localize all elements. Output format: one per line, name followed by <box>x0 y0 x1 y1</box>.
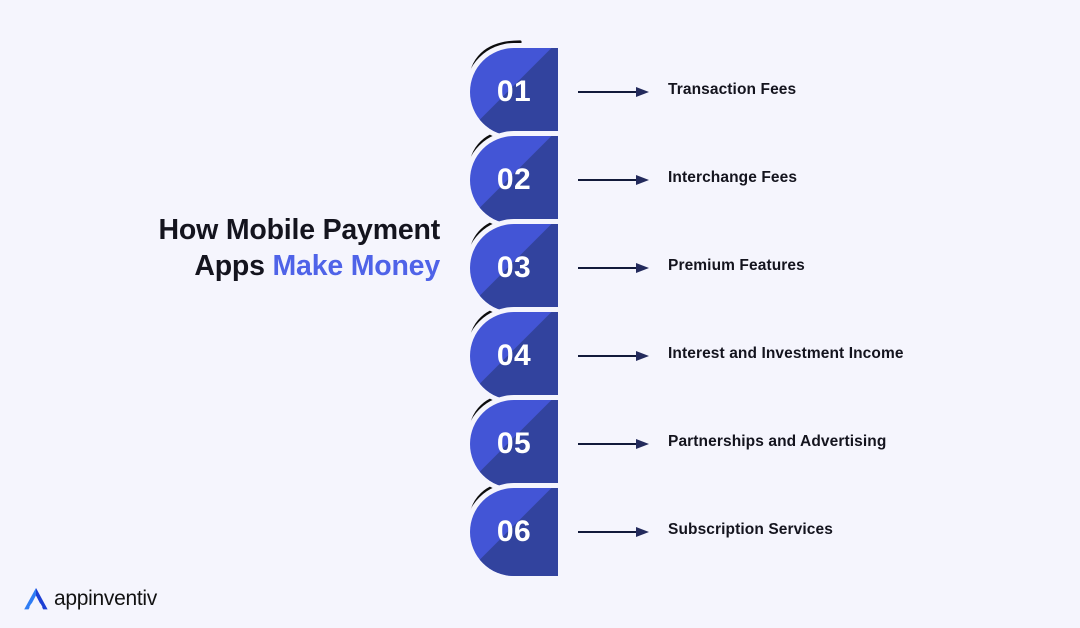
step-badge[interactable]: 02 <box>470 136 558 224</box>
step-number: 03 <box>470 224 558 312</box>
step-label: Interchange Fees <box>668 169 797 187</box>
step-badge[interactable]: 06 <box>470 488 558 576</box>
list-item[interactable]: 01 Transaction Fees <box>0 48 1080 136</box>
step-label: Interest and Investment Income <box>668 345 904 363</box>
step-badge[interactable]: 03 <box>470 224 558 312</box>
appinventiv-a-chevron-icon <box>20 583 52 615</box>
list-item[interactable]: 03 Premium Features <box>0 224 1080 312</box>
list-item[interactable]: 06 Subscription Services <box>0 488 1080 576</box>
logo-wordmark: appinventiv <box>54 587 157 611</box>
step-number: 05 <box>470 400 558 488</box>
step-badge[interactable]: 05 <box>470 400 558 488</box>
step-badge[interactable]: 01 <box>470 48 558 136</box>
arrow-icon <box>578 438 654 450</box>
arrow-icon <box>578 86 654 98</box>
step-number: 01 <box>470 48 558 136</box>
arrow-icon <box>578 526 654 538</box>
list-item[interactable]: 02 Interchange Fees <box>0 136 1080 224</box>
list-item[interactable]: 05 Partnerships and Advertising <box>0 400 1080 488</box>
appinventiv-logo: appinventiv <box>20 583 157 615</box>
step-label: Partnerships and Advertising <box>668 433 886 451</box>
step-number: 06 <box>470 488 558 576</box>
infographic-canvas: How Mobile Payment Apps Make Money 01 Tr… <box>0 0 1080 628</box>
step-number: 04 <box>470 312 558 400</box>
arrow-icon <box>578 350 654 362</box>
list-item[interactable]: 04 Interest and Investment Income <box>0 312 1080 400</box>
step-label: Transaction Fees <box>668 81 796 99</box>
steps-list: 01 Transaction Fees 02 Interchange Fees … <box>0 0 1080 628</box>
arrow-icon <box>578 174 654 186</box>
arrow-icon <box>578 262 654 274</box>
step-label: Subscription Services <box>668 521 833 539</box>
step-number: 02 <box>470 136 558 224</box>
step-label: Premium Features <box>668 257 805 275</box>
step-badge[interactable]: 04 <box>470 312 558 400</box>
